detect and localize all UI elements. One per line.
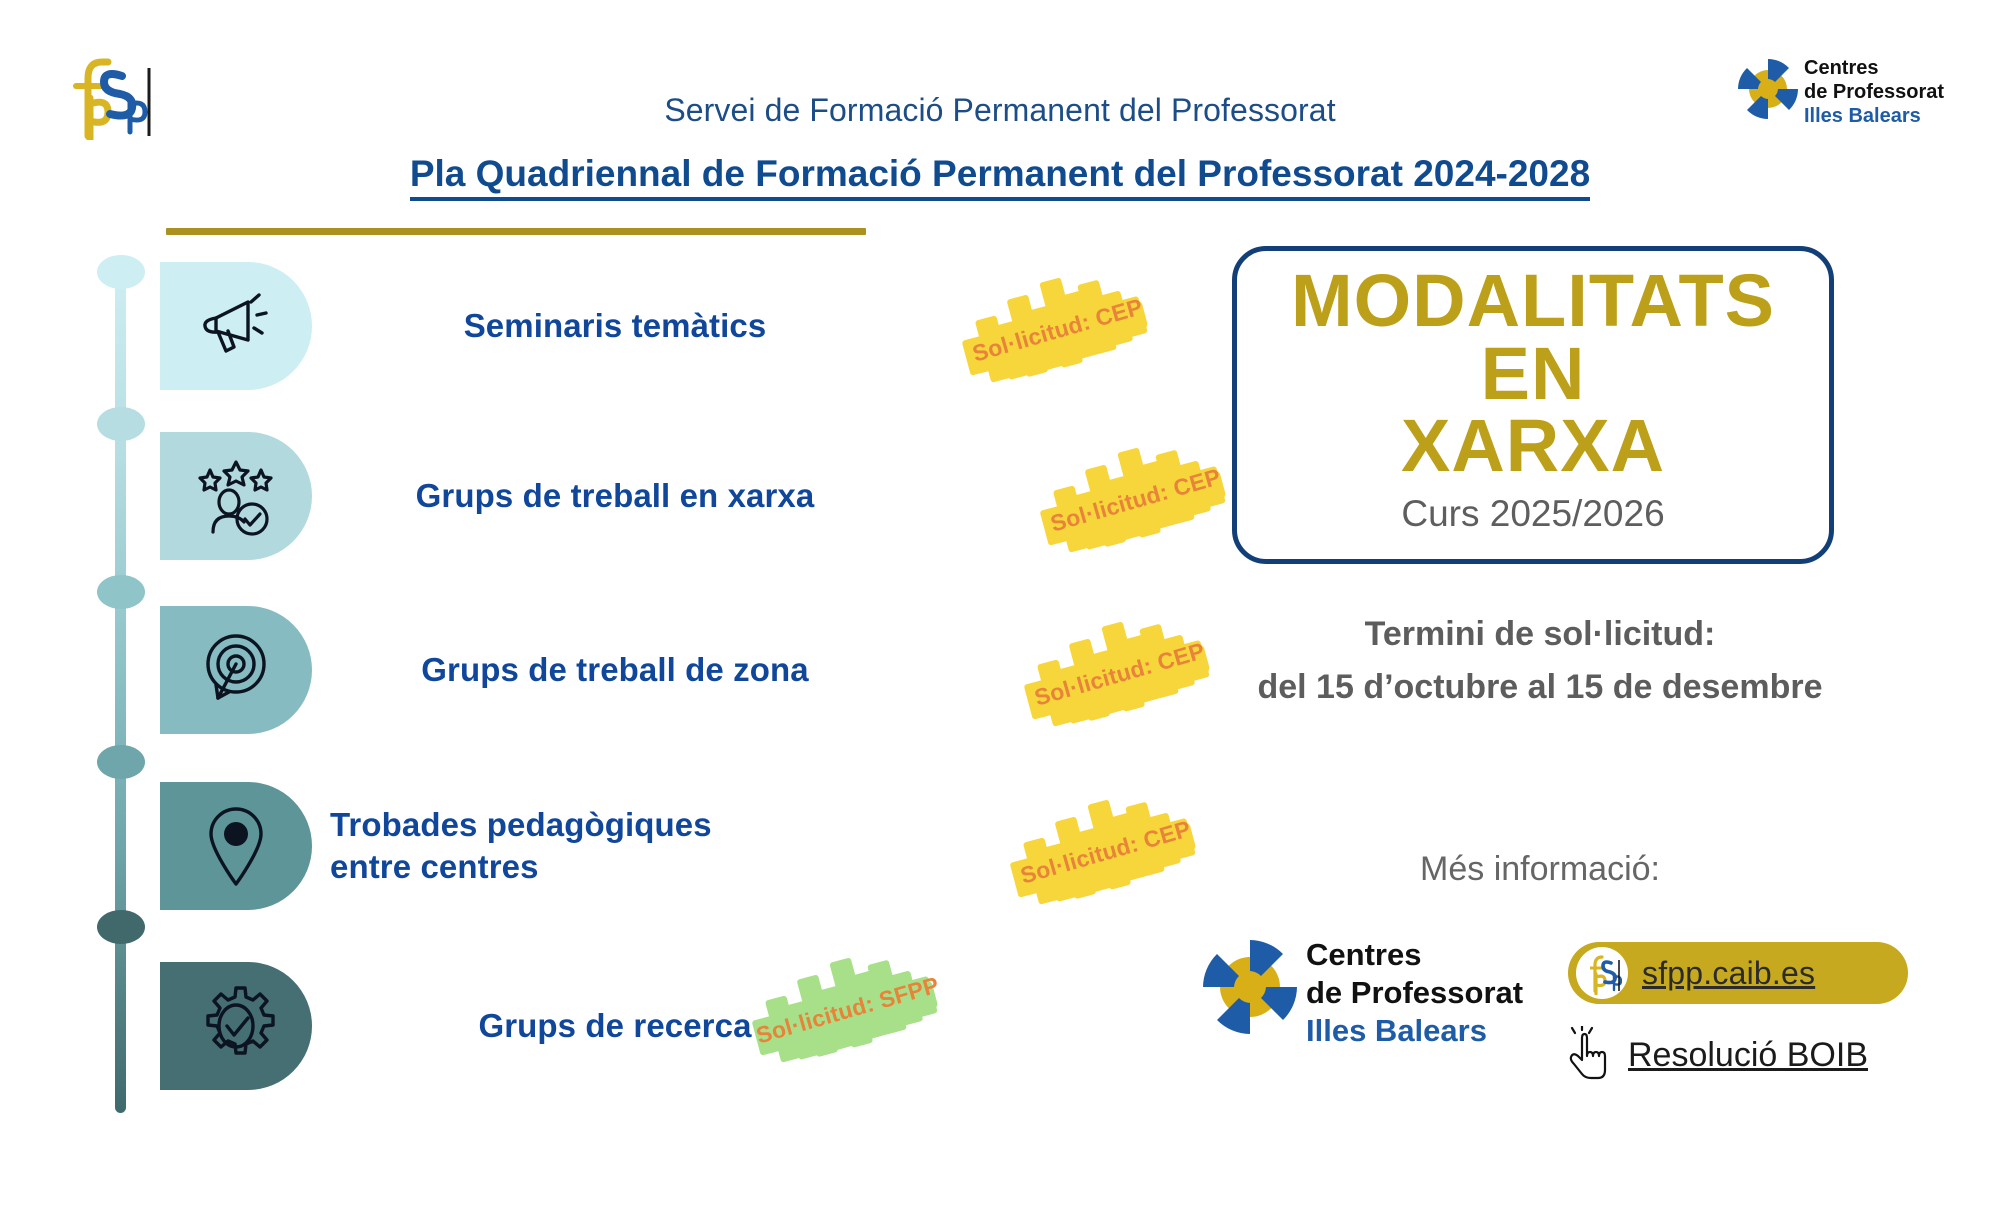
sfpp-url-text[interactable]: sfpp.caib.es bbox=[1642, 955, 1815, 992]
timeline-dot-2 bbox=[97, 407, 145, 441]
modality-label-text: Grups de treball en xarxa bbox=[416, 475, 815, 517]
gold-divider bbox=[166, 228, 866, 235]
card-title-line2: EN bbox=[1481, 338, 1586, 411]
gear-check-icon bbox=[195, 984, 277, 1068]
cep-footer-line3: Illes Balears bbox=[1306, 1013, 1487, 1047]
modality-row[interactable]: Grups de treball de zona Sol·licitud: CE… bbox=[160, 606, 1210, 776]
page-title-text: Pla Quadriennal de Formació Permanent de… bbox=[410, 153, 1590, 201]
modality-label: Grups de treball de zona bbox=[335, 606, 895, 734]
cep-logo-line2: de Professorat bbox=[1804, 81, 1944, 103]
card-course-year: Curs 2025/2026 bbox=[1401, 493, 1664, 535]
deadline-dates: del 15 d’octubre al 15 de desembre bbox=[1160, 661, 1920, 714]
modality-label-wrap: Trobades pedagògiques entre centres bbox=[330, 804, 712, 888]
modality-icon-plate bbox=[160, 782, 312, 910]
more-info-label: Més informació: bbox=[1160, 850, 1920, 889]
modality-label-text-line2: entre centres bbox=[330, 846, 712, 888]
timeline-dot-3 bbox=[97, 575, 145, 609]
timeline-dot-5 bbox=[97, 910, 145, 944]
fspp-logo-small bbox=[1576, 947, 1628, 999]
deadline-block: Termini de sol·licitud: del 15 d’octubre… bbox=[1160, 608, 1920, 713]
sfpp-url-button[interactable]: sfpp.caib.es bbox=[1568, 942, 1908, 1004]
cep-flower-mark bbox=[1203, 940, 1297, 1034]
card-title-line1: MODALITATS bbox=[1291, 265, 1775, 338]
modality-row[interactable]: Grups de treball en xarxa Sol·licitud: C… bbox=[160, 432, 1210, 602]
highlight-badge: Sol·licitud: CEP bbox=[950, 270, 1165, 390]
modality-label: Seminaris temàtics bbox=[335, 262, 895, 390]
highlight-badge: Sol·licitud: SFPP bbox=[740, 950, 955, 1070]
cep-logo-line1: Centres bbox=[1804, 57, 1878, 79]
header-subtitle: Servei de Formació Permanent del Profess… bbox=[0, 92, 2000, 129]
modality-icon-plate bbox=[160, 962, 312, 1090]
modality-row[interactable]: Grups de recerca Sol·licitud: SFPP bbox=[160, 962, 1210, 1132]
megaphone-icon bbox=[196, 288, 276, 364]
modality-icon-plate bbox=[160, 262, 312, 390]
cep-logo-line3: Illes Balears bbox=[1804, 105, 1921, 127]
target-arrow-icon bbox=[196, 630, 276, 710]
timeline bbox=[95, 255, 145, 1115]
boib-link-text[interactable]: Resolució BOIB bbox=[1628, 1036, 1868, 1075]
cep-footer-line1: Centres bbox=[1306, 937, 1421, 972]
highlight-text: Sol·licitud: CEP bbox=[938, 243, 1178, 418]
header: Servei de Formació Permanent del Profess… bbox=[0, 0, 2000, 210]
modality-icon-plate bbox=[160, 432, 312, 560]
timeline-line bbox=[115, 273, 126, 1113]
pointing-hand-icon bbox=[1568, 1026, 1614, 1085]
person-stars-check-icon bbox=[195, 456, 277, 536]
deadline-label: Termini de sol·licitud: bbox=[1160, 608, 1920, 661]
modality-label-text: Seminaris temàtics bbox=[464, 305, 767, 347]
timeline-dot-4 bbox=[97, 745, 145, 779]
highlight-badge: Sol·licitud: CEP bbox=[1028, 440, 1243, 560]
modality-icon-plate bbox=[160, 606, 312, 734]
modality-label-text: Trobades pedagògiques bbox=[330, 806, 712, 843]
modalities-card: MODALITATS EN XARXA Curs 2025/2026 bbox=[1232, 246, 1834, 564]
cep-footer-line2: de Professorat bbox=[1306, 975, 1523, 1010]
cep-logo-header: Centres de Professorat Illes Balears bbox=[1734, 50, 1964, 128]
cep-flower-mark bbox=[1738, 59, 1798, 119]
modality-row[interactable]: Trobades pedagògiques entre centres Sol·… bbox=[160, 782, 1210, 952]
modality-label: Trobades pedagògiques entre centres bbox=[330, 782, 890, 910]
highlight-text: Sol·licitud: CEP bbox=[1016, 413, 1256, 588]
timeline-dot-1 bbox=[97, 255, 145, 289]
location-pin-icon bbox=[203, 804, 269, 888]
modality-label-text: Grups de treball de zona bbox=[421, 649, 808, 691]
card-title-line3: XARXA bbox=[1401, 410, 1665, 483]
cep-logo-footer: Centres de Professorat Illes Balears bbox=[1198, 925, 1528, 1047]
modality-row[interactable]: Seminaris temàtics Sol·licitud: CEP bbox=[160, 262, 1210, 432]
page-title: Pla Quadriennal de Formació Permanent de… bbox=[0, 153, 2000, 195]
modality-label-text: Grups de recerca bbox=[478, 1005, 751, 1047]
boib-resolution-link[interactable]: Resolució BOIB bbox=[1568, 1025, 1968, 1085]
modality-label: Grups de treball en xarxa bbox=[335, 432, 895, 560]
